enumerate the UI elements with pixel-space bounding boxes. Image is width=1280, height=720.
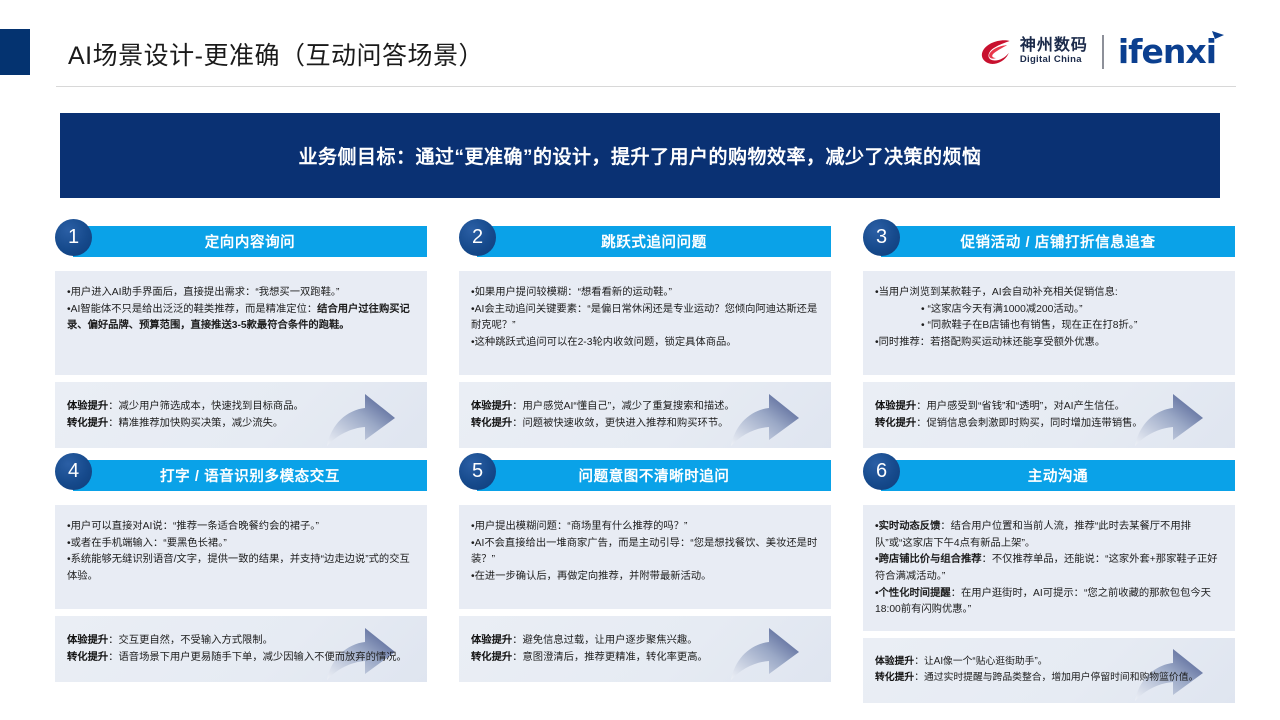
scenario-card-5: 问题意图不清晰时追问 5 •用户提出模糊问题：“商场里有什么推荐的吗？” •AI… [459,460,831,682]
impact-label-experience: 体验提升 [67,635,108,646]
card-bullets-2: •如果用户提问较模糊：“想看看新的运动鞋。” •AI会主动追问关键要素：“是偏日… [471,285,819,352]
slide-header: AI场景设计-更准确（互动问答场景） 神州数码 Digital China if… [0,0,1280,88]
card-body-3: •当用户浏览到某款鞋子，AI会自动补充相关促销信息: • “这家店今天有满100… [863,271,1235,375]
card-body-6: •实时动态反馈：结合用户位置和当前人流，推荐“此时去某餐厅不用排队”或“这家店下… [863,505,1235,631]
impact-conversion-3: 转化提升：促销信息会刺激即时购买，同时增加连带销售。 [875,415,1223,432]
bullet-lead: •跨店铺比价与组合推荐 [875,554,982,565]
bullet-item: •这种跳跃式追问可以在2-3轮内收敛问题，锁定具体商品。 [471,335,819,352]
scenario-card-6: 主动沟通 6 •实时动态反馈：结合用户位置和当前人流，推荐“此时去某餐厅不用排队… [863,460,1235,703]
bullet-item: •实时动态反馈：结合用户位置和当前人流，推荐“此时去某餐厅不用排队”或“这家店下… [875,519,1223,552]
logo-cn-text: 神州数码 [1020,38,1088,55]
digital-china-logo: 神州数码 Digital China [979,37,1088,67]
bullet-item: •用户提出模糊问题：“商场里有什么推荐的吗？” [471,519,819,536]
impact-conversion-5: 转化提升：意图澄清后，推荐更精准，转化率更高。 [471,649,819,666]
bullet-item: •同时推荐：若搭配购买运动袜还能享受额外优惠。 [875,335,1223,352]
page-title: AI场景设计-更准确（互动问答场景） [68,36,484,72]
card-number-badge-5: 5 [459,453,496,490]
slide-root: AI场景设计-更准确（互动问答场景） 神州数码 Digital China if… [0,0,1280,720]
card-number-badge-1: 1 [55,219,92,256]
digital-china-mark-icon [979,37,1013,67]
impact-value-conversion: 通过实时提醒与跨品类整合，增加用户停留时间和购物篮价值。 [924,672,1198,683]
impact-label-experience: 体验提升 [471,401,512,412]
card-impact-2: 体验提升：用户感觉AI“懂自己”，减少了重复搜索和描述。 转化提升：问题被快速收… [459,382,831,448]
impact-value-experience: 交互更自然，不受输入方式限制。 [118,635,272,646]
impact-value-experience: 用户感受到“省钱”和“透明”，对AI产生信任。 [926,401,1125,412]
impact-experience-1: 体验提升：减少用户筛选成本，快速找到目标商品。 [67,398,415,415]
objective-banner: 业务侧目标：通过“更准确”的设计，提升了用户的购物效率，减少了决策的烦恼 [60,113,1220,198]
card-header-5: 问题意图不清晰时追问 5 [459,460,831,498]
card-number-badge-4: 4 [55,453,92,490]
bullet-item: •如果用户提问较模糊：“想看看新的运动鞋。” [471,285,819,302]
card-impact-1: 体验提升：减少用户筛选成本，快速找到目标商品。 转化提升：精准推荐加快购买决策，… [55,382,427,448]
card-bullets-6: •实时动态反馈：结合用户位置和当前人流，推荐“此时去某餐厅不用排队”或“这家店下… [875,519,1223,619]
bullet-item-indented: • “同款鞋子在B店铺也有销售，现在正在打8折。” [875,318,1223,335]
bullet-lead-text: 跨店铺比价与组合推荐 [879,554,982,565]
impact-experience-6: 体验提升：让AI像一个“贴心逛街助手”。 [875,654,1223,670]
card-bullets-3: •当用户浏览到某款鞋子，AI会自动补充相关促销信息: • “这家店今天有满100… [875,285,1223,352]
impact-value-experience: 减少用户筛选成本，快速找到目标商品。 [118,401,303,412]
header-divider [56,86,1236,87]
card-bullets-5: •用户提出模糊问题：“商场里有什么推荐的吗？” •AI不会直接给出一堆商家广告，… [471,519,819,586]
bullet-item: •个性化时间提醒：在用户逛街时，AI可提示：“您之前收藏的那款包包今天18:00… [875,586,1223,619]
card-title-bar-6: 主动沟通 [881,460,1235,491]
card-number-badge-6: 6 [863,453,900,490]
bullet-item: •AI不会直接给出一堆商家广告，而是主动引导：“您是想找餐饮、美妆还是时装？” [471,536,819,569]
card-title-bar-1: 定向内容询问 [73,226,427,257]
header-accent-block [0,29,30,75]
card-title-bar-5: 问题意图不清晰时追问 [477,460,831,491]
impact-label-conversion: 转化提升 [471,652,512,663]
card-number-badge-2: 2 [459,219,496,256]
card-header-1: 定向内容询问 1 [55,226,427,264]
scenario-card-grid: 定向内容询问 1 •用户进入AI助手界面后，直接提出需求：“我想买一双跑鞋。” … [55,226,1235,706]
card-impact-3: 体验提升：用户感受到“省钱”和“透明”，对AI产生信任。 转化提升：促销信息会刺… [863,382,1235,448]
impact-conversion-1: 转化提升：精准推荐加快购买决策，减少流失。 [67,415,415,432]
bullet-item: •跨店铺比价与组合推荐：不仅推荐单品，还能说：“这家外套+那家鞋子正好符合满减活… [875,552,1223,585]
bullet-item: •系统能够无缝识别语音/文字，提供一致的结果，并支持“边走边说”式的交互体验。 [67,552,415,585]
impact-experience-2: 体验提升：用户感觉AI“懂自己”，减少了重复搜索和描述。 [471,398,819,415]
card-title-4: 打字 / 语音识别多模态交互 [160,465,340,486]
card-title-5: 问题意图不清晰时追问 [579,465,730,486]
card-body-5: •用户提出模糊问题：“商场里有什么推荐的吗？” •AI不会直接给出一堆商家广告，… [459,505,831,609]
impact-conversion-6: 转化提升：通过实时提醒与跨品类整合，增加用户停留时间和购物篮价值。 [875,670,1223,686]
bullet-item: •当用户浏览到某款鞋子，AI会自动补充相关促销信息: [875,285,1223,302]
card-title-bar-3: 促销活动 / 店铺打折信息追查 [881,226,1235,257]
card-title-bar-4: 打字 / 语音识别多模态交互 [73,460,427,491]
card-title-6: 主动沟通 [1028,465,1088,486]
bullet-item: •AI会主动追问关键要素：“是偏日常休闲还是专业运动？您倾向阿迪达斯还是耐克呢？… [471,302,819,335]
impact-experience-5: 体验提升：避免信息过载，让用户逐步聚焦兴趣。 [471,632,819,649]
impact-value-conversion: 问题被快速收敛，更快进入推荐和购买环节。 [522,418,728,429]
card-impact-6: 体验提升：让AI像一个“贴心逛街助手”。 转化提升：通过实时提醒与跨品类整合，增… [863,638,1235,703]
card-impact-4: 体验提升：交互更自然，不受输入方式限制。 转化提升：语音场景下用户更易随手下单，… [55,616,427,682]
card-number-badge-3: 3 [863,219,900,256]
card-bullets-1: •用户进入AI助手界面后，直接提出需求：“我想买一双跑鞋。” •AI智能体不只是… [67,285,415,335]
impact-label-conversion: 转化提升 [67,652,108,663]
impact-label-conversion: 转化提升 [471,418,512,429]
scenario-card-3: 促销活动 / 店铺打折信息追查 3 •当用户浏览到某款鞋子，AI会自动补充相关促… [863,226,1235,448]
logo-divider [1102,35,1104,69]
impact-experience-3: 体验提升：用户感受到“省钱”和“透明”，对AI产生信任。 [875,398,1223,415]
bullet-item-indented: • “这家店今天有满1000减200活动。” [875,302,1223,319]
impact-label-conversion: 转化提升 [875,672,914,683]
card-title-1: 定向内容询问 [205,231,296,252]
scenario-card-4: 打字 / 语音识别多模态交互 4 •用户可以直接对AI说：“推荐一条适合晚餐约会… [55,460,427,682]
objective-banner-text: 业务侧目标：通过“更准确”的设计，提升了用户的购物效率，减少了决策的烦恼 [298,142,981,169]
card-header-6: 主动沟通 6 [863,460,1235,498]
bullet-lead-text: 实时动态反馈 [879,521,941,532]
impact-label-experience: 体验提升 [67,401,108,412]
card-title-bar-2: 跳跃式追问问题 [477,226,831,257]
bullet-item: •在进一步确认后，再做定向推荐，并附带最新活动。 [471,569,819,586]
card-header-4: 打字 / 语音识别多模态交互 4 [55,460,427,498]
card-title-2: 跳跃式追问问题 [601,231,707,252]
impact-label-conversion: 转化提升 [875,418,916,429]
card-header-3: 促销活动 / 店铺打折信息追查 3 [863,226,1235,264]
impact-value-conversion: 意图澄清后，推荐更精准，转化率更高。 [522,652,707,663]
bullet-item: •用户可以直接对AI说：“推荐一条适合晚餐约会的裙子。” [67,519,415,536]
impact-value-experience: 用户感觉AI“懂自己”，减少了重复搜索和描述。 [522,401,734,412]
bullet-item: •AI智能体不只是给出泛泛的鞋类推荐，而是精准定位：结合用户过往购买记录、偏好品… [67,302,415,335]
card-title-3: 促销活动 / 店铺打折信息追查 [960,231,1155,252]
scenario-card-2: 跳跃式追问问题 2 •如果用户提问较模糊：“想看看新的运动鞋。” •AI会主动追… [459,226,831,448]
bullet-text: •AI智能体不只是给出泛泛的鞋类推荐，而是精准定位： [67,304,317,315]
card-body-1: •用户进入AI助手界面后，直接提出需求：“我想买一双跑鞋。” •AI智能体不只是… [55,271,427,375]
card-body-4: •用户可以直接对AI说：“推荐一条适合晚餐约会的裙子。” •或者在手机端输入：“… [55,505,427,609]
ifenxi-swoosh-icon [1211,30,1225,46]
card-bullets-4: •用户可以直接对AI说：“推荐一条适合晚餐约会的裙子。” •或者在手机端输入：“… [67,519,415,586]
impact-conversion-2: 转化提升：问题被快速收敛，更快进入推荐和购买环节。 [471,415,819,432]
impact-value-conversion: 精准推荐加快购买决策，减少流失。 [118,418,283,429]
impact-label-conversion: 转化提升 [67,418,108,429]
impact-value-experience: 让AI像一个“贴心逛街助手”。 [924,656,1048,667]
card-impact-5: 体验提升：避免信息过载，让用户逐步聚焦兴趣。 转化提升：意图澄清后，推荐更精准，… [459,616,831,682]
impact-value-experience: 避免信息过载，让用户逐步聚焦兴趣。 [522,635,697,646]
impact-label-experience: 体验提升 [471,635,512,646]
impact-label-experience: 体验提升 [875,401,916,412]
impact-experience-4: 体验提升：交互更自然，不受输入方式限制。 [67,632,415,649]
impact-label-experience: 体验提升 [875,656,914,667]
digital-china-wordmark: 神州数码 Digital China [1020,38,1088,65]
impact-value-conversion: 促销信息会刺激即时购买，同时增加连带销售。 [926,418,1142,429]
impact-conversion-4: 转化提升：语音场景下用户更易随手下单，减少因输入不便而放弃的情况。 [67,649,415,666]
bullet-lead-text: 个性化时间提醒 [879,588,951,599]
card-body-2: •如果用户提问较模糊：“想看看新的运动鞋。” •AI会主动追问关键要素：“是偏日… [459,271,831,375]
ifenxi-wordmark: ifenxi [1118,32,1216,71]
logo-en-text: Digital China [1020,55,1088,65]
logo-group: 神州数码 Digital China ifenxi [979,32,1222,71]
ifenxi-logo: ifenxi [1118,32,1222,71]
bullet-lead: •实时动态反馈 [875,521,940,532]
bullet-item: •或者在手机端输入：“要黑色长裙。” [67,536,415,553]
bullet-item: •用户进入AI助手界面后，直接提出需求：“我想买一双跑鞋。” [67,285,415,302]
impact-value-conversion: 语音场景下用户更易随手下单，减少因输入不便而放弃的情况。 [118,652,406,663]
bullet-lead: •个性化时间提醒 [875,588,951,599]
card-header-2: 跳跃式追问问题 2 [459,226,831,264]
scenario-card-1: 定向内容询问 1 •用户进入AI助手界面后，直接提出需求：“我想买一双跑鞋。” … [55,226,427,448]
